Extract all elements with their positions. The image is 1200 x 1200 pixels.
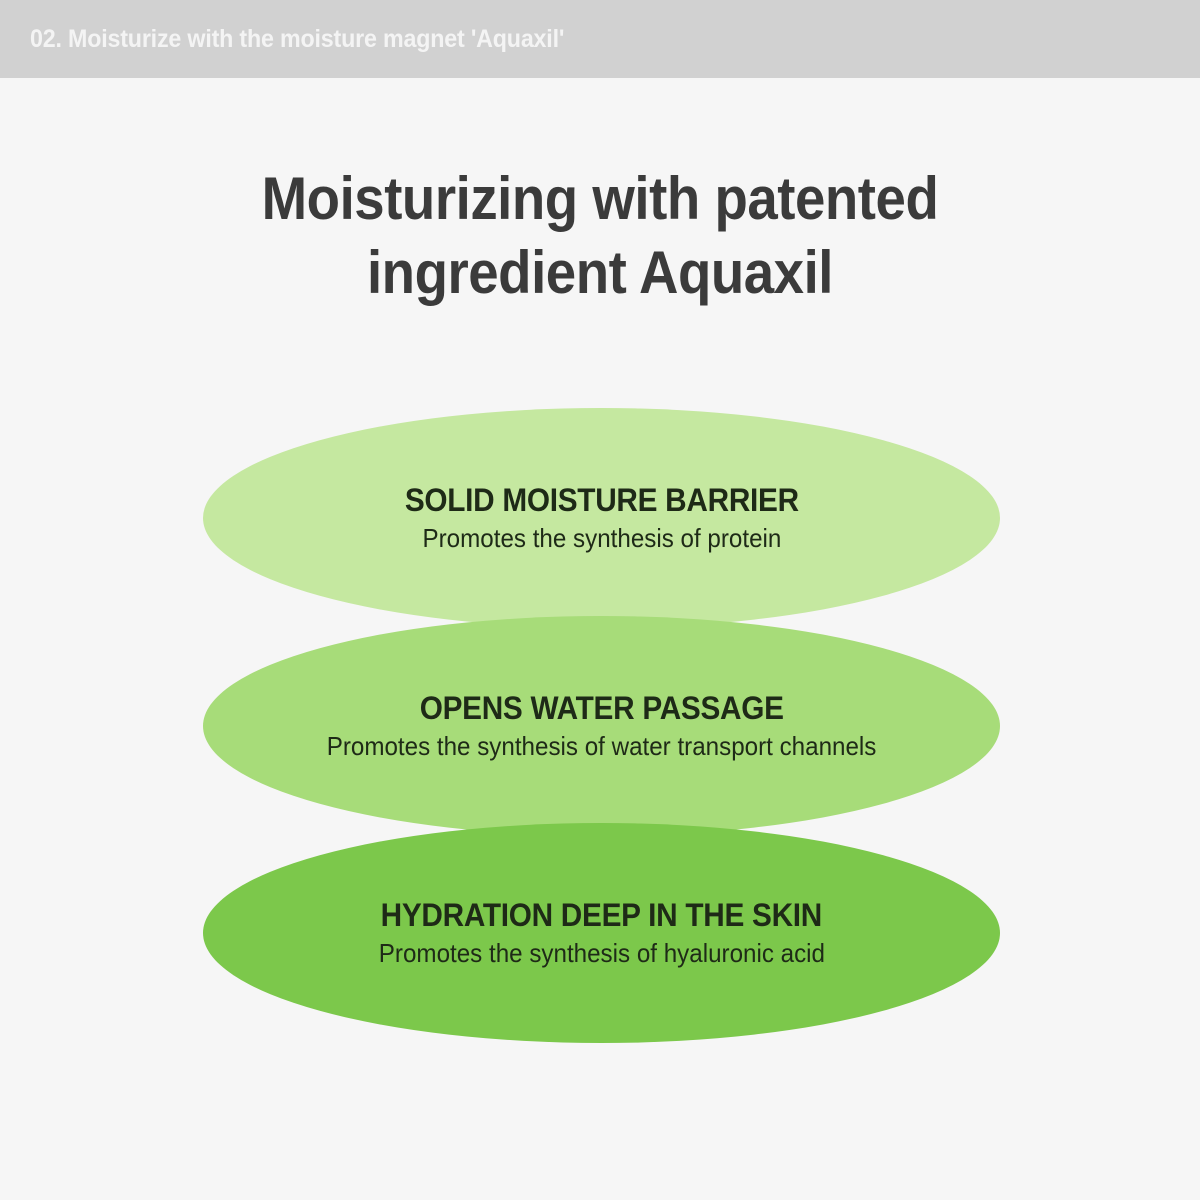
section-header-label: 02. Moisturize with the moisture magnet … — [30, 25, 564, 54]
benefits-ellipse-diagram: SOLID MOISTURE BARRIER Promotes the synt… — [203, 408, 1000, 1048]
diagram-ellipse-solid-moisture-barrier: SOLID MOISTURE BARRIER Promotes the synt… — [203, 408, 1000, 628]
page-title: Moisturizing with patented ingredient Aq… — [0, 162, 1200, 310]
ellipse-subtext: Promotes the synthesis of protein — [422, 521, 781, 555]
section-header-bar: 02. Moisturize with the moisture magnet … — [0, 0, 1200, 78]
diagram-ellipse-hydration-deep-in-the-skin: HYDRATION DEEP IN THE SKIN Promotes the … — [203, 823, 1000, 1043]
ellipse-subtext: Promotes the synthesis of water transpor… — [327, 729, 877, 763]
diagram-ellipse-opens-water-passage: OPENS WATER PASSAGE Promotes the synthes… — [203, 616, 1000, 836]
ellipse-heading: SOLID MOISTURE BARRIER — [404, 481, 798, 519]
page-title-line-2: ingredient Aquaxil — [54, 236, 1146, 310]
ellipse-subtext: Promotes the synthesis of hyaluronic aci… — [378, 936, 824, 970]
ellipse-heading: OPENS WATER PASSAGE — [419, 689, 783, 727]
page-title-line-1: Moisturizing with patented — [54, 162, 1146, 236]
ellipse-heading: HYDRATION DEEP IN THE SKIN — [381, 896, 822, 934]
